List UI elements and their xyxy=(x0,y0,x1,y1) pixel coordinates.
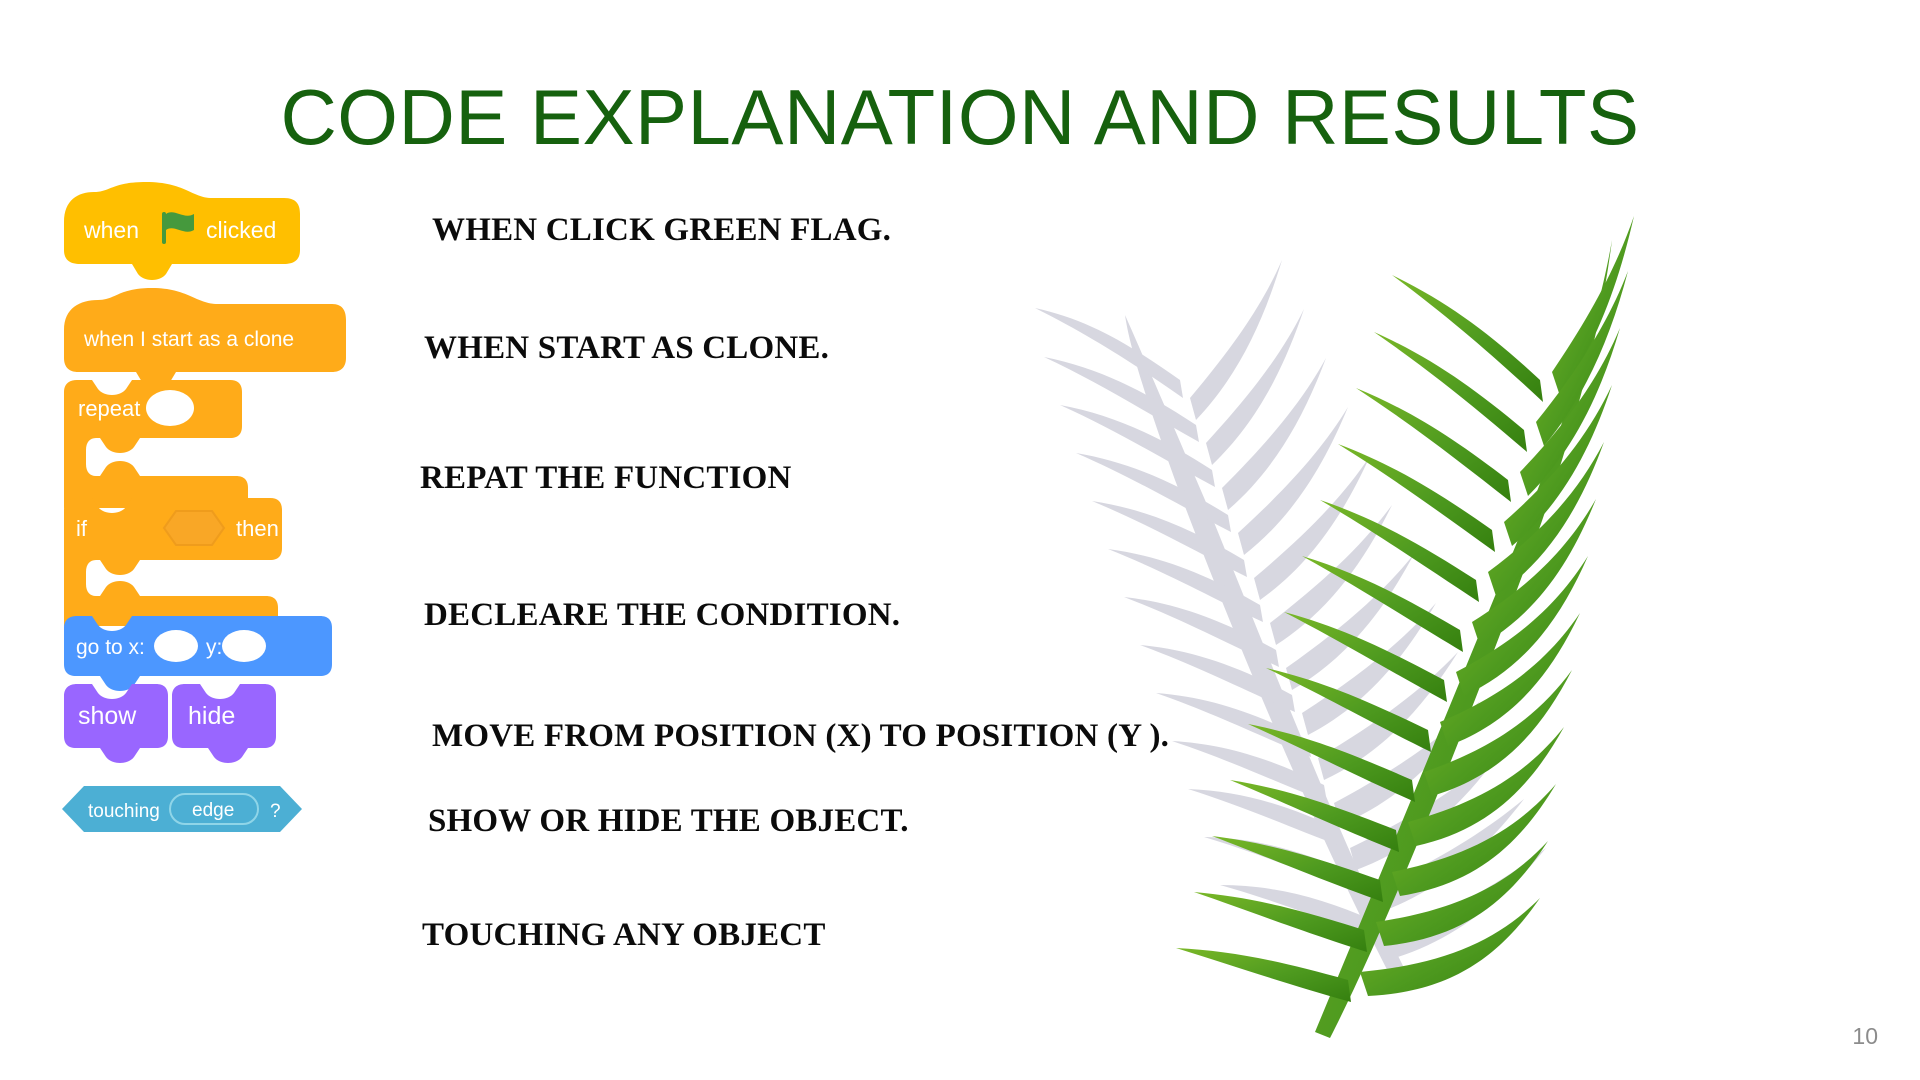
block-label-clicked: clicked xyxy=(206,217,276,243)
block-label-repeat: repeat xyxy=(78,396,140,421)
block-label-touching: touching xyxy=(88,801,160,822)
page-number: 10 xyxy=(1852,1023,1878,1050)
block-label-hide: hide xyxy=(188,702,235,730)
block-label-when-i-start-as-a-clone: when I start as a clone xyxy=(83,328,294,351)
explanation-clone: WHEN START AS CLONE. xyxy=(424,330,829,366)
explanation-move: MOVE FROM POSITION (X) TO POSITION (Y ). xyxy=(432,718,1169,754)
block-repeat[interactable]: repeat xyxy=(60,376,400,508)
block-label-go-to-x: go to x: xyxy=(76,636,145,659)
block-label-show: show xyxy=(78,702,137,730)
scratch-block-list: when clicked when I start as a clone rep… xyxy=(0,190,340,1020)
block-if-then[interactable]: if then xyxy=(60,494,400,626)
explanation-show-hide: SHOW OR HIDE THE OBJECT. xyxy=(428,803,909,839)
go-to-x-input[interactable] xyxy=(154,630,198,662)
block-hide[interactable]: hide xyxy=(168,680,348,766)
block-when-green-flag-clicked[interactable]: when clicked xyxy=(60,182,400,290)
block-label-when: when xyxy=(83,217,139,243)
if-condition-slot[interactable] xyxy=(164,511,224,545)
explanation-touching: TOUCHING ANY OBJECT xyxy=(422,917,826,953)
repeat-count-input[interactable] xyxy=(146,390,194,426)
explanation-green-flag: WHEN CLICK GREEN FLAG. xyxy=(432,212,891,248)
block-touching-edge[interactable]: touching edge ? xyxy=(60,782,360,844)
block-label-question-mark: ? xyxy=(270,801,281,822)
explanation-list: WHEN CLICK GREEN FLAG. WHEN START AS CLO… xyxy=(410,190,1370,1020)
page-title: CODE EXPLANATION AND RESULTS xyxy=(0,78,1920,156)
block-label-go-to-y: y: xyxy=(206,636,222,659)
block-label-if: if xyxy=(76,516,88,541)
go-to-y-input[interactable] xyxy=(222,630,266,662)
slide-canvas: CODE EXPLANATION AND RESULTS when clicke… xyxy=(0,0,1920,1080)
explanation-repeat: REPAT THE FUNCTION xyxy=(420,460,792,496)
block-label-then: then xyxy=(236,516,279,541)
touching-target-value: edge xyxy=(192,800,234,821)
explanation-condition: DECLEARE THE CONDITION. xyxy=(424,597,900,633)
